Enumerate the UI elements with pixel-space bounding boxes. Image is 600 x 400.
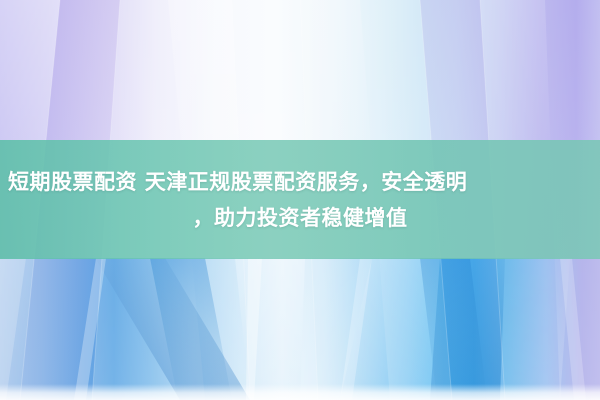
bottom-fade-overlay (0, 384, 600, 400)
headline-line-1: 短期股票配资 天津正规股票配资服务，安全透明 (8, 164, 467, 200)
headline-line-2: ，助力投资者稳健增值 (193, 200, 408, 236)
banner-headline: 短期股票配资 天津正规股票配资服务，安全透明 ，助力投资者稳健增值 (0, 140, 600, 259)
promo-banner: 短期股票配资 天津正规股票配资服务，安全透明 ，助力投资者稳健增值 (0, 0, 600, 400)
